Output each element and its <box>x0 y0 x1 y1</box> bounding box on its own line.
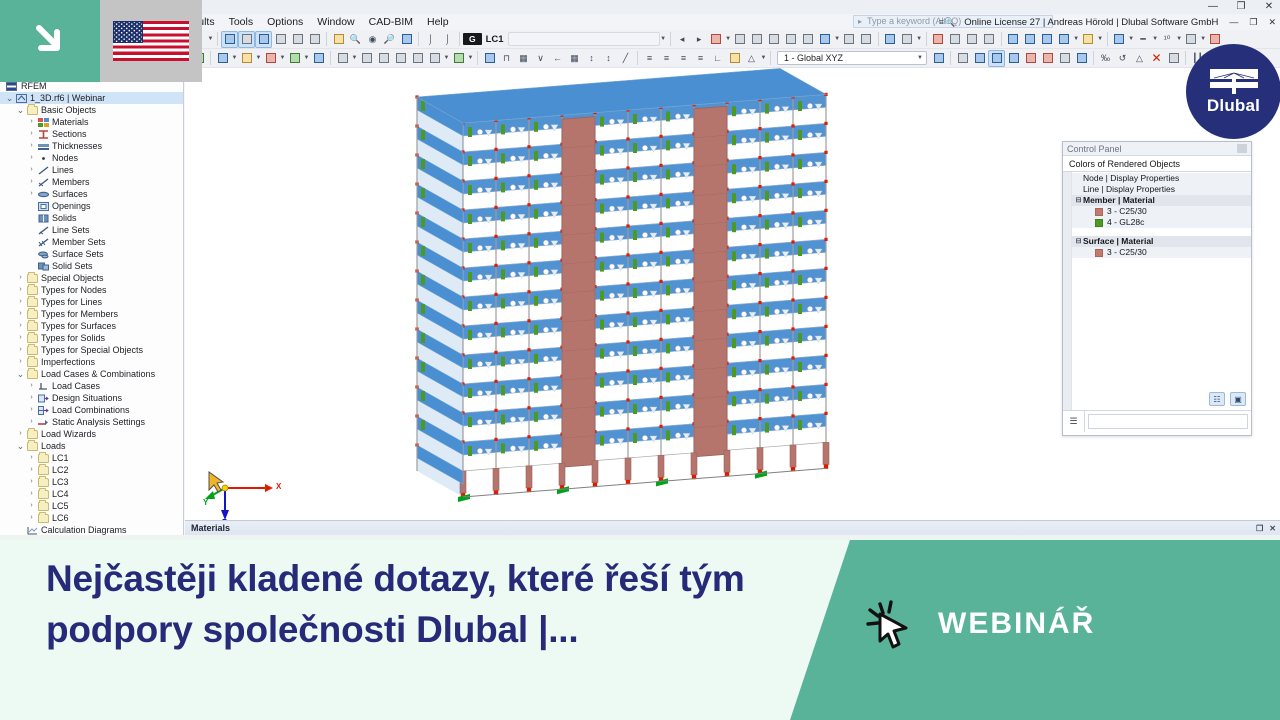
us-flag-icon <box>113 21 189 61</box>
new-support-dropdown-icon[interactable]: ▼ <box>351 55 358 61</box>
load-wizard-dropdown-icon[interactable]: ▼ <box>725 36 732 42</box>
folder-icon <box>26 358 39 367</box>
deformation-y-button[interactable] <box>1022 31 1039 48</box>
expand-icon[interactable]: › <box>26 488 37 500</box>
solid-set-icon <box>37 262 50 271</box>
transparency-button[interactable] <box>1022 50 1039 67</box>
expand-icon[interactable]: › <box>15 272 26 284</box>
status-bar: Materials ❐ ✕ <box>185 520 1280 535</box>
tree-item-1-3d-rf6-webinar[interactable]: ⌄1_3D.rf6 | Webinar <box>0 92 183 104</box>
expand-icon[interactable]: › <box>15 356 26 368</box>
expand-icon[interactable]: › <box>26 176 37 188</box>
object-snap-button[interactable]: ← <box>549 50 566 67</box>
tree-item-types-for-surfaces[interactable]: ›Types for Surfaces <box>0 320 183 332</box>
tree-item-sections[interactable]: ›Sections <box>0 128 183 140</box>
expand-icon[interactable]: › <box>15 308 26 320</box>
line-support-button[interactable] <box>749 31 766 48</box>
tree-item-label: Types for Lines <box>39 296 102 308</box>
panel-restore-button[interactable]: ❐ <box>1256 524 1263 533</box>
printout-report-button[interactable] <box>272 31 289 48</box>
menu-item-window[interactable]: Window <box>310 14 361 30</box>
control-panel-gutter <box>1063 172 1072 410</box>
toolbar-separator <box>459 32 460 46</box>
webinar-label: WEBINÁŘ <box>938 607 1095 641</box>
model-window-button[interactable] <box>221 31 238 48</box>
tree-item-solids[interactable]: Solids <box>0 212 183 224</box>
new-member-dropdown-icon[interactable]: ▼ <box>255 55 262 61</box>
expand-icon[interactable]: › <box>26 128 37 140</box>
show-supports-button[interactable] <box>1039 50 1056 67</box>
navigator-panel: RFEM ⌄1_3D.rf6 | Webinar⌄Basic Objects›M… <box>0 80 184 538</box>
results-table-button[interactable] <box>964 31 981 48</box>
section-dropdown-icon[interactable]: ▼ <box>1200 36 1207 42</box>
calculate-button[interactable] <box>330 31 347 48</box>
tree-item-members[interactable]: ›Members <box>0 176 183 188</box>
menu-item-cad-bim[interactable]: CAD-BIM <box>362 14 420 30</box>
cp-row-surface-material[interactable]: ⊟Surface | Material <box>1072 236 1251 247</box>
tree-item-label: Materials <box>50 116 89 128</box>
rigid-link-dropdown-icon[interactable]: ▼ <box>443 55 450 61</box>
color-swatch[interactable] <box>1095 249 1103 257</box>
coordinate-system-select[interactable]: 1 - Global XYZ ▼ <box>777 51 927 65</box>
tree-item-member-sets[interactable]: Member Sets <box>0 236 183 248</box>
filter-button[interactable] <box>481 50 498 67</box>
internal-forces-dropdown-icon[interactable]: ▼ <box>1097 36 1104 42</box>
toolbar-separator <box>477 51 478 65</box>
solid-icon <box>37 214 50 223</box>
delete-button[interactable]: ✕ <box>1148 50 1165 67</box>
control-panel-input[interactable] <box>1088 414 1248 429</box>
design-situation-icon <box>37 394 50 403</box>
expand-icon[interactable]: › <box>26 140 37 152</box>
smoothing-dropdown-icon[interactable]: ▼ <box>1152 36 1159 42</box>
new-solid-button[interactable] <box>286 50 303 67</box>
coordinate-system-edit-button[interactable] <box>930 50 947 67</box>
scale-dropdown-icon[interactable]: ▼ <box>1176 36 1183 42</box>
rstab-button[interactable] <box>306 31 323 48</box>
internal-forces-button[interactable] <box>1080 31 1097 48</box>
rfem-icon <box>6 82 17 91</box>
webinar-badge: WEBINÁŘ <box>866 598 1095 650</box>
tree-item-thicknesses[interactable]: ›Thicknesses <box>0 140 183 152</box>
percent-button[interactable]: ‰ <box>1097 50 1114 67</box>
color-swatch[interactable] <box>1095 208 1103 216</box>
tree-item-label: Special Objects <box>39 272 104 284</box>
tree-item-lines[interactable]: ›Lines <box>0 164 183 176</box>
render-view-button[interactable] <box>398 31 415 48</box>
new-rigid-link-button[interactable] <box>426 50 443 67</box>
toolbar-separator <box>770 51 771 65</box>
tree-item-imperfections[interactable]: ›Imperfections <box>0 356 183 368</box>
cp-row-member-material[interactable]: ⊟Member | Material <box>1072 195 1251 206</box>
new-nodal-support-button[interactable] <box>334 50 351 67</box>
tree-item-label: Nodes <box>50 152 78 164</box>
tree-item-label: Types for Surfaces <box>39 320 116 332</box>
tree-item-label: Thicknesses <box>50 140 102 152</box>
panel-settings-button[interactable]: ☷ <box>1209 392 1225 406</box>
toolbar-separator <box>1107 32 1108 46</box>
tree-item-label: Line Sets <box>50 224 90 236</box>
folder-icon <box>37 478 50 487</box>
collapse-icon[interactable]: ⌄ <box>15 440 26 452</box>
tree-item-static-analysis-settings[interactable]: ›Static Analysis Settings <box>0 416 183 428</box>
pin-icon[interactable] <box>1237 144 1247 153</box>
collapse-icon[interactable]: ⌄ <box>4 92 15 104</box>
collapse-icon[interactable]: ⌄ <box>15 368 26 380</box>
tables-button[interactable] <box>238 31 255 48</box>
undo-dropdown-icon[interactable]: ▼ <box>207 36 214 42</box>
dimension-button[interactable]: ↕ <box>583 50 600 67</box>
align-bottom-button[interactable]: ≡ <box>675 50 692 67</box>
expand-icon[interactable]: › <box>26 380 37 392</box>
load-case-label: LC1 <box>486 34 504 45</box>
materials-icon <box>37 118 50 127</box>
panel-dock-controls: ❐ ✕ <box>1256 524 1276 533</box>
expand-icon[interactable]: › <box>26 476 37 488</box>
load-combination-icon <box>37 406 50 415</box>
line-icon <box>37 166 50 175</box>
tree-item-types-for-lines[interactable]: ›Types for Lines <box>0 296 183 308</box>
expand-icon[interactable]: › <box>15 428 26 440</box>
measure-button[interactable]: ↕ <box>600 50 617 67</box>
folder-icon <box>26 346 39 355</box>
table-view-button[interactable] <box>954 50 971 67</box>
tree-item-label: Imperfections <box>39 356 95 368</box>
tree-item-solid-sets[interactable]: Solid Sets <box>0 260 183 272</box>
tree-item-nodes[interactable]: ›Nodes <box>0 152 183 164</box>
diagram-dropdown-icon[interactable]: ▼ <box>760 55 767 61</box>
cp-spacer <box>1072 228 1251 236</box>
expand-icon[interactable]: › <box>26 152 37 164</box>
view-side-button[interactable]: ⌡ <box>439 31 456 48</box>
tree-item-types-for-members[interactable]: ›Types for Members <box>0 308 183 320</box>
result-values-button[interactable] <box>1111 31 1128 48</box>
view-front-button[interactable]: ⌡ <box>422 31 439 48</box>
member-hinge-button[interactable] <box>766 31 783 48</box>
cp-row-node-display-properties[interactable]: Node | Display Properties <box>1072 173 1251 184</box>
tree-item-label: Types for Nodes <box>39 284 107 296</box>
mesh-table-button[interactable] <box>899 31 916 48</box>
display-settings-button[interactable] <box>971 50 988 67</box>
align-middle-button[interactable]: ≡ <box>658 50 675 67</box>
tree-item-label: LC2 <box>50 464 69 476</box>
deformation-total-button[interactable] <box>1056 31 1073 48</box>
folder-icon <box>37 466 50 475</box>
angle-button[interactable]: ∟ <box>709 50 726 67</box>
menu-item-options[interactable]: Options <box>260 14 310 30</box>
warning-button[interactable]: △ <box>1131 50 1148 67</box>
tree-item-special-objects[interactable]: ›Special Objects <box>0 272 183 284</box>
doc-minimize-button[interactable]: — <box>1229 17 1238 28</box>
tree-item-openings[interactable]: Openings <box>0 200 183 212</box>
load-case-icon <box>37 382 50 391</box>
panel-display-button[interactable]: ▣ <box>1230 392 1246 406</box>
snap-button[interactable]: ⊓ <box>498 50 515 67</box>
tree-item-types-for-solids[interactable]: ›Types for Solids <box>0 332 183 344</box>
collapse-icon[interactable]: ⌄ <box>15 104 26 116</box>
rendering-button[interactable] <box>988 50 1005 67</box>
collapse-box-icon[interactable]: ⊟ <box>1074 195 1083 206</box>
zoom-all-button[interactable]: ◉ <box>364 31 381 48</box>
folder-icon <box>26 322 39 331</box>
rsection-button[interactable] <box>289 31 306 48</box>
new-line-hinge-button[interactable] <box>392 50 409 67</box>
distribute-button[interactable]: ≡ <box>692 50 709 67</box>
arrow-badge <box>0 0 100 82</box>
show-numbering-button[interactable] <box>1073 50 1090 67</box>
cp-row-line-display-properties[interactable]: Line | Display Properties <box>1072 184 1251 195</box>
close-button[interactable]: ✕ <box>1262 0 1276 14</box>
surface-set-icon <box>37 250 50 259</box>
folder-icon <box>37 490 50 499</box>
control-panel: Control Panel Colors of Rendered Objects… <box>1062 141 1252 436</box>
calc-diagram-icon <box>26 526 39 535</box>
grid-button[interactable]: ▦ <box>515 50 532 67</box>
tree-item-label: Types for Solids <box>39 332 105 344</box>
section-result-button[interactable] <box>1183 31 1200 48</box>
arrow-down-right-icon <box>27 18 73 64</box>
diagram-button[interactable]: △ <box>743 50 760 67</box>
toolbar-separator <box>326 32 327 46</box>
expand-icon[interactable]: › <box>26 164 37 176</box>
previous-load-case-button[interactable]: ◂ <box>674 31 691 48</box>
coordinate-axes: X Y Z <box>203 458 293 520</box>
cp-row-3-c25-30[interactable]: 3 - C25/30 <box>1072 247 1251 258</box>
tree-item-label: Surface Sets <box>50 248 104 260</box>
cp-row-label: Member | Material <box>1083 195 1155 206</box>
expand-icon[interactable]: › <box>26 464 37 476</box>
load-wizard-button[interactable] <box>708 31 725 48</box>
expand-icon[interactable]: › <box>26 404 37 416</box>
new-member-hinge-button[interactable] <box>375 50 392 67</box>
cp-row-label: Line | Display Properties <box>1083 184 1175 195</box>
ortho-button[interactable]: ∨ <box>532 50 549 67</box>
model-icon <box>15 94 28 103</box>
fe-mesh-button[interactable] <box>882 31 899 48</box>
tree-item-label: Lines <box>50 164 74 176</box>
work-plane-button[interactable]: ▦ <box>566 50 583 67</box>
new-line-button[interactable] <box>214 50 231 67</box>
folder-icon <box>26 106 39 115</box>
deformation-x-button[interactable] <box>1005 31 1022 48</box>
deformation-dropdown-icon[interactable]: ▼ <box>1073 36 1080 42</box>
folder-icon <box>26 298 39 307</box>
control-panel-tab[interactable]: Colors of Rendered Objects <box>1063 156 1251 172</box>
cp-row-label: 4 - GL28c <box>1107 217 1144 228</box>
folder-icon <box>26 334 39 343</box>
tree-item-materials[interactable]: ›Materials <box>0 116 183 128</box>
model-check-button[interactable] <box>947 31 964 48</box>
toolbar-separator <box>926 32 927 46</box>
tree-item-basic-objects[interactable]: ⌄Basic Objects <box>0 104 183 116</box>
next-load-case-button[interactable]: ▸ <box>691 31 708 48</box>
new-surface-support-button[interactable] <box>409 50 426 67</box>
menu-item-help[interactable]: Help <box>420 14 456 30</box>
language-flag-badge[interactable] <box>100 0 202 82</box>
expand-icon[interactable]: › <box>26 452 37 464</box>
expand-icon[interactable]: › <box>26 500 37 512</box>
tree-item-load-combinations[interactable]: ›Load Combinations <box>0 404 183 416</box>
tree-item-lc1[interactable]: ›LC1 <box>0 452 183 464</box>
folder-icon <box>37 454 50 463</box>
material-library-button[interactable] <box>817 31 834 48</box>
collapse-box-icon[interactable]: ⊟ <box>1074 236 1083 247</box>
deformation-z-button[interactable] <box>1039 31 1056 48</box>
new-load-button[interactable] <box>450 50 467 67</box>
static-analysis-icon <box>37 418 50 427</box>
screenshot-root: — ❐ ✕ sults Tools Options Window CAD-BIM… <box>0 0 1280 720</box>
new-member-button[interactable] <box>238 50 255 67</box>
material-dropdown-icon[interactable]: ▼ <box>834 36 841 42</box>
cp-row-4-gl28c[interactable]: 4 - GL28c <box>1072 217 1251 228</box>
tree-item-lc3[interactable]: ›LC3 <box>0 476 183 488</box>
toolbar-separator <box>878 32 879 46</box>
line-set-icon <box>37 226 50 235</box>
tree-item-label: Load Cases <box>50 380 100 392</box>
show-loads-button[interactable] <box>1056 50 1073 67</box>
model-tree: ⌄1_3D.rf6 | Webinar⌄Basic Objects›Materi… <box>0 92 183 536</box>
wireframe-button[interactable] <box>1005 50 1022 67</box>
navigator-header-label: RFEM <box>21 81 47 91</box>
tree-item-label: Loads <box>39 440 66 452</box>
tree-item-label: Load Combinations <box>50 404 130 416</box>
folder-icon <box>26 286 39 295</box>
new-load-dropdown-icon[interactable]: ▼ <box>467 55 474 61</box>
tree-item-lc2[interactable]: ›LC2 <box>0 464 183 476</box>
list-icon[interactable]: ☰ <box>1063 411 1085 432</box>
doc-restore-button[interactable]: ❐ <box>1249 17 1257 28</box>
expand-icon[interactable]: › <box>26 392 37 404</box>
result-values-dropdown-icon[interactable]: ▼ <box>1128 36 1135 42</box>
click-cursor-icon <box>866 598 918 650</box>
align-top-button[interactable]: ≡ <box>641 50 658 67</box>
folder-icon <box>26 274 39 283</box>
expand-icon[interactable]: › <box>26 512 37 524</box>
smoothing-button[interactable]: ━ <box>1135 31 1152 48</box>
mesh-dropdown-icon[interactable]: ▼ <box>916 36 923 42</box>
tree-item-label: Openings <box>50 200 91 212</box>
cp-row-label: 3 - C25/30 <box>1107 247 1147 258</box>
document-window-controls: — ❐ ✕ <box>1229 17 1276 28</box>
tree-item-lc5[interactable]: ›LC5 <box>0 500 183 512</box>
load-case-chip[interactable]: G LC1 <box>463 32 504 46</box>
expand-icon[interactable]: › <box>26 416 37 428</box>
tree-item-label: LC1 <box>50 452 69 464</box>
expand-icon[interactable]: › <box>26 116 37 128</box>
zoom-previous-button[interactable]: 🔎 <box>381 31 398 48</box>
panel-close-button[interactable]: ✕ <box>1269 524 1276 533</box>
tree-item-label: Sections <box>50 128 87 140</box>
toolbar-separator <box>217 32 218 46</box>
mesh-settings-button[interactable] <box>858 31 875 48</box>
dlubal-frame-icon <box>1208 67 1260 94</box>
tree-item-load-wizards[interactable]: ›Load Wizards <box>0 428 183 440</box>
toolbar-separator <box>670 32 671 46</box>
coordinate-system-value: 1 - Global XYZ <box>784 53 843 63</box>
control-panel-tab-label: Colors of Rendered Objects <box>1069 159 1180 169</box>
surface-icon <box>37 190 50 199</box>
surface-support-button[interactable] <box>783 31 800 48</box>
expand-icon[interactable]: › <box>26 188 37 200</box>
tree-item-label: Static Analysis Settings <box>50 416 145 428</box>
imperfection-button[interactable] <box>841 31 858 48</box>
tree-item-surfaces[interactable]: ›Surfaces <box>0 188 183 200</box>
folder-icon <box>37 502 50 511</box>
new-opening-button[interactable] <box>310 50 327 67</box>
expand-icon[interactable]: › <box>15 296 26 308</box>
node-icon <box>37 154 50 163</box>
cp-row-label: Surface | Material <box>1083 236 1153 247</box>
toolbar-separator <box>1185 51 1186 65</box>
tree-item-label: LC5 <box>50 500 69 512</box>
tree-item-lc4[interactable]: ›LC4 <box>0 488 183 500</box>
navigator-button[interactable] <box>255 31 272 48</box>
control-panel-body: Node | Display PropertiesLine | Display … <box>1063 172 1251 410</box>
line-tool-button[interactable]: ╱ <box>617 50 634 67</box>
new-surface-dropdown-icon[interactable]: ▼ <box>279 55 286 61</box>
tree-item-label: Solids <box>50 212 77 224</box>
tree-item-label: LC4 <box>50 488 69 500</box>
tree-item-types-for-nodes[interactable]: ›Types for Nodes <box>0 284 183 296</box>
tree-item-lc6[interactable]: ›LC6 <box>0 512 183 524</box>
maximize-button[interactable]: ❐ <box>1234 0 1248 14</box>
expand-icon[interactable]: › <box>15 344 26 356</box>
expand-icon[interactable]: › <box>15 332 26 344</box>
folder-icon <box>37 514 50 523</box>
expand-icon[interactable]: › <box>15 320 26 332</box>
tree-item-label: Member Sets <box>50 236 106 248</box>
new-solid-dropdown-icon[interactable]: ▼ <box>303 55 310 61</box>
folder-icon <box>26 442 39 451</box>
control-panel-title: Control Panel <box>1067 144 1122 154</box>
result-diagram-button[interactable] <box>981 31 998 48</box>
dlubal-logo-text: Dlubal <box>1207 96 1260 116</box>
opening-icon <box>37 202 50 211</box>
zoom-select-button[interactable]: 🔍 <box>347 31 364 48</box>
settings-button[interactable] <box>1165 50 1182 67</box>
member-set-icon <box>37 238 50 247</box>
nodal-support-button[interactable] <box>732 31 749 48</box>
rotate-button[interactable] <box>726 50 743 67</box>
toolbar-separator <box>1001 32 1002 46</box>
tree-item-types-for-special-objects[interactable]: ›Types for Special Objects <box>0 344 183 356</box>
tree-item-design-situations[interactable]: ›Design Situations <box>0 392 183 404</box>
load-case-dropdown-icon[interactable]: ▼ <box>660 36 667 42</box>
tree-item-surface-sets[interactable]: Surface Sets <box>0 248 183 260</box>
tree-item-load-cases[interactable]: ›Load Cases <box>0 380 183 392</box>
expand-icon[interactable]: › <box>15 284 26 296</box>
color-swatch[interactable] <box>1095 219 1103 227</box>
tree-item-load-cases-combinations[interactable]: ⌄Load Cases & Combinations <box>0 368 183 380</box>
new-line-support-button[interactable] <box>358 50 375 67</box>
new-surface-button[interactable] <box>262 50 279 67</box>
tree-item-label: Load Wizards <box>39 428 96 440</box>
delete-results-button[interactable] <box>930 31 947 48</box>
load-case-field[interactable] <box>508 32 660 46</box>
tree-item-label: Members <box>50 176 90 188</box>
new-line-dropdown-icon[interactable]: ▼ <box>231 55 238 61</box>
menu-item-tools[interactable]: Tools <box>222 14 261 30</box>
cp-row-3-c25-30[interactable]: 3 - C25/30 <box>1072 206 1251 217</box>
doc-close-button[interactable]: ✕ <box>1268 17 1276 28</box>
loop-button[interactable]: ↺ <box>1114 50 1131 67</box>
dlubal-logo: Dlubal <box>1186 44 1280 139</box>
scale-button[interactable]: ¹⁰ <box>1159 31 1176 48</box>
tree-item-loads[interactable]: ⌄Loads <box>0 440 183 452</box>
tree-item-line-sets[interactable]: Line Sets <box>0 224 183 236</box>
minimize-button[interactable]: — <box>1206 0 1220 14</box>
cross-section-button[interactable] <box>800 31 817 48</box>
